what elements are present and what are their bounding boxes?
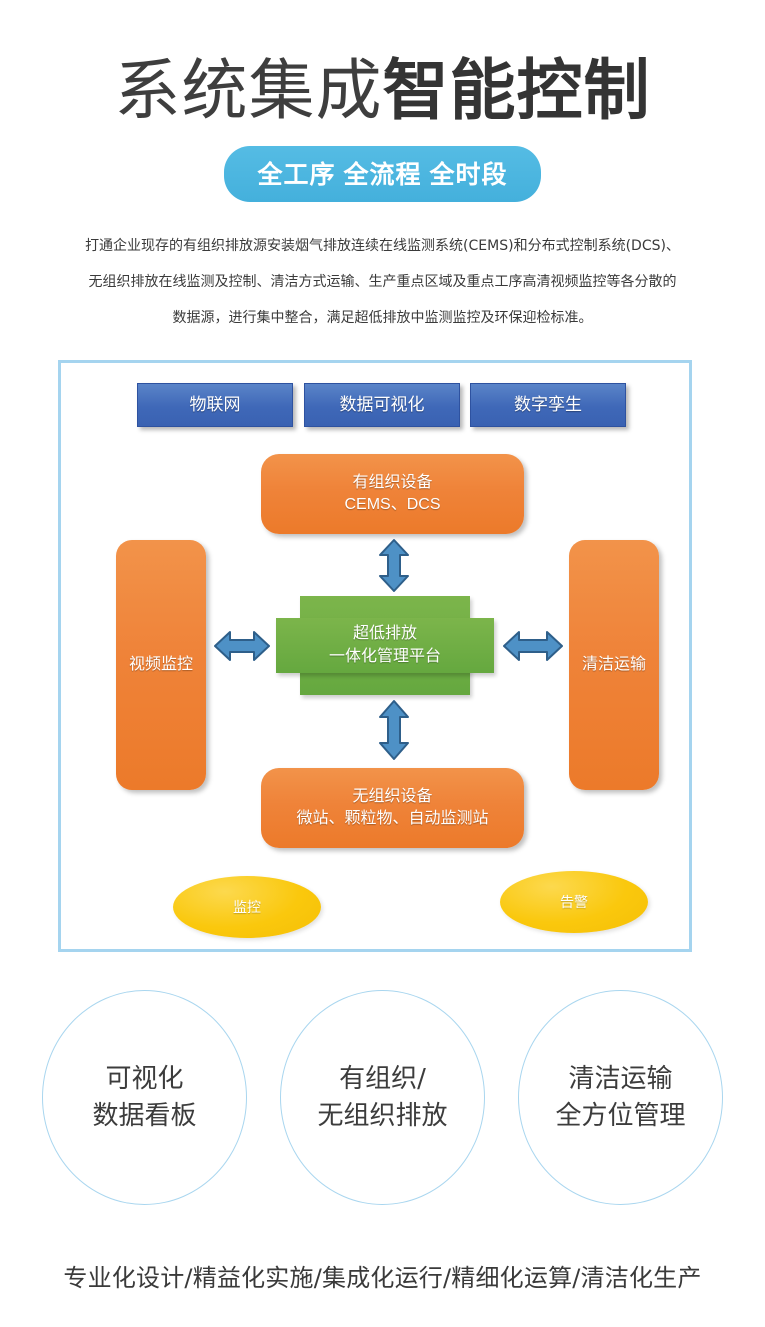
double-arrow-horizontal-icon-left xyxy=(213,629,271,663)
diagram-node-unorganized-equipment[interactable]: 无组织设备 微站、颗粒物、自动监测站 xyxy=(261,768,524,848)
double-arrow-horizontal-icon-right xyxy=(502,629,564,663)
double-arrow-vertical-icon-top xyxy=(377,538,411,593)
feature-circle-transport-line-1: 清洁运输 xyxy=(568,1061,672,1098)
feature-circle-visualization-line-1: 可视化 xyxy=(105,1061,183,1098)
feature-circle-emissions-line-2: 无组织排放 xyxy=(317,1098,447,1135)
diagram-box-data-visualization[interactable]: 数据可视化 xyxy=(304,383,460,427)
diagram-node-video-monitoring[interactable]: 视频监控 xyxy=(116,540,206,790)
platform-line-2: 一体化管理平台 xyxy=(329,646,441,669)
organized-equipment-line-2: CEMS、DCS xyxy=(344,494,440,516)
diagram-box-iot[interactable]: 物联网 xyxy=(137,383,293,427)
diagram-ellipse-alarm[interactable]: 告警 xyxy=(500,871,648,933)
organized-equipment-line-1: 有组织设备 xyxy=(352,472,432,494)
intro-line-3: 数据源，进行集中整合，满足超低排放中监测监控及环保迎检标准。 xyxy=(65,300,700,336)
double-arrow-vertical-icon-bottom xyxy=(377,699,411,761)
page-header: 系统集成智能控制 全工序 全流程 全时段 打通企业现存的有组织排放源安装烟气排放… xyxy=(0,0,765,336)
page-title-bold: 智能控制 xyxy=(383,52,651,129)
unorganized-equipment-line-2: 微站、颗粒物、自动监测站 xyxy=(296,808,488,830)
architecture-diagram: 物联网 数据可视化 数字孪生 有组织设备 CEMS、DCS 无组织设备 微站、颗… xyxy=(58,360,692,952)
page-title: 系统集成智能控制 xyxy=(0,58,765,124)
monitoring-ellipse-label: 监控 xyxy=(233,897,261,917)
badge-container: 全工序 全流程 全时段 xyxy=(0,146,765,202)
diagram-ellipse-monitoring[interactable]: 监控 xyxy=(173,876,321,938)
feature-circle-transport-line-2: 全方位管理 xyxy=(555,1098,685,1135)
intro-line-2: 无组织排放在线监测及控制、清洁方式运输、生产重点区域及重点工序高清视频监控等各分… xyxy=(65,264,700,300)
diagram-node-organized-equipment[interactable]: 有组织设备 CEMS、DCS xyxy=(261,454,524,534)
diagram-node-platform[interactable]: 超低排放 一体化管理平台 xyxy=(276,596,494,695)
tagline-badge: 全工序 全流程 全时段 xyxy=(224,146,542,202)
feature-circle-visualization-line-2: 数据看板 xyxy=(92,1098,196,1135)
feature-circle-emissions-line-1: 有组织/ xyxy=(339,1061,426,1098)
intro-paragraph: 打通企业现存的有组织排放源安装烟气排放连续在线监测系统(CEMS)和分布式控制系… xyxy=(65,228,700,336)
intro-line-1: 打通企业现存的有组织排放源安装烟气排放连续在线监测系统(CEMS)和分布式控制系… xyxy=(65,228,700,264)
platform-label: 超低排放 一体化管理平台 xyxy=(276,596,494,695)
diagram-node-clean-transport[interactable]: 清洁运输 xyxy=(569,540,659,790)
feature-circle-visualization[interactable]: 可视化 数据看板 xyxy=(42,990,247,1205)
feature-circle-emissions[interactable]: 有组织/ 无组织排放 xyxy=(280,990,485,1205)
diagram-box-digital-twin-label: 数字孪生 xyxy=(514,393,582,416)
video-monitoring-label: 视频监控 xyxy=(129,654,193,676)
feature-circle-transport[interactable]: 清洁运输 全方位管理 xyxy=(518,990,723,1205)
diagram-box-iot-label: 物联网 xyxy=(190,393,241,416)
unorganized-equipment-line-1: 无组织设备 xyxy=(352,786,432,808)
diagram-box-data-visualization-label: 数据可视化 xyxy=(340,393,425,416)
page-title-light: 系统集成 xyxy=(115,52,383,129)
feature-circles: 可视化 数据看板 有组织/ 无组织排放 清洁运输 全方位管理 xyxy=(0,990,765,1205)
footer-tagline: 专业化设计/精益化实施/集成化运行/精细化运算/清洁化生产 xyxy=(0,1258,765,1293)
platform-line-1: 超低排放 xyxy=(353,623,417,646)
clean-transport-label: 清洁运输 xyxy=(582,654,646,676)
alarm-ellipse-label: 告警 xyxy=(560,892,588,912)
diagram-box-digital-twin[interactable]: 数字孪生 xyxy=(470,383,626,427)
